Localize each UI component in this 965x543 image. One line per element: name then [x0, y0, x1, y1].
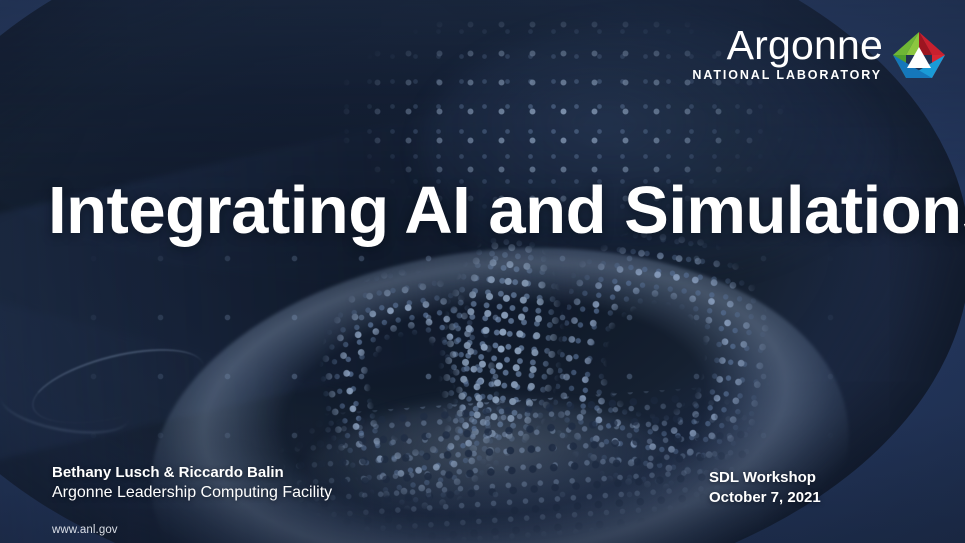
argonne-logo-text: Argonne NATIONAL LABORATORY [692, 26, 883, 82]
slide-title: Integrating AI and Simulations [48, 177, 948, 245]
event-date: October 7, 2021 [709, 488, 821, 508]
argonne-logo-subtitle: NATIONAL LABORATORY [692, 68, 882, 82]
footer-url[interactable]: www.anl.gov [52, 524, 118, 536]
author-affiliation: Argonne Leadership Computing Facility [52, 483, 332, 503]
event-name: SDL Workshop [709, 468, 821, 488]
argonne-logo: Argonne NATIONAL LABORATORY [692, 26, 947, 85]
author-block: Bethany Lusch & Riccardo Balin Argonne L… [52, 463, 332, 504]
argonne-triangle-logo-icon [891, 30, 947, 85]
slide-content: Argonne NATIONAL LABORATORY [0, 0, 965, 543]
argonne-wordmark: Argonne [727, 26, 883, 65]
title-slide: Argonne NATIONAL LABORATORY [0, 0, 965, 543]
event-block: SDL Workshop October 7, 2021 [709, 468, 821, 508]
author-names: Bethany Lusch & Riccardo Balin [52, 463, 332, 482]
